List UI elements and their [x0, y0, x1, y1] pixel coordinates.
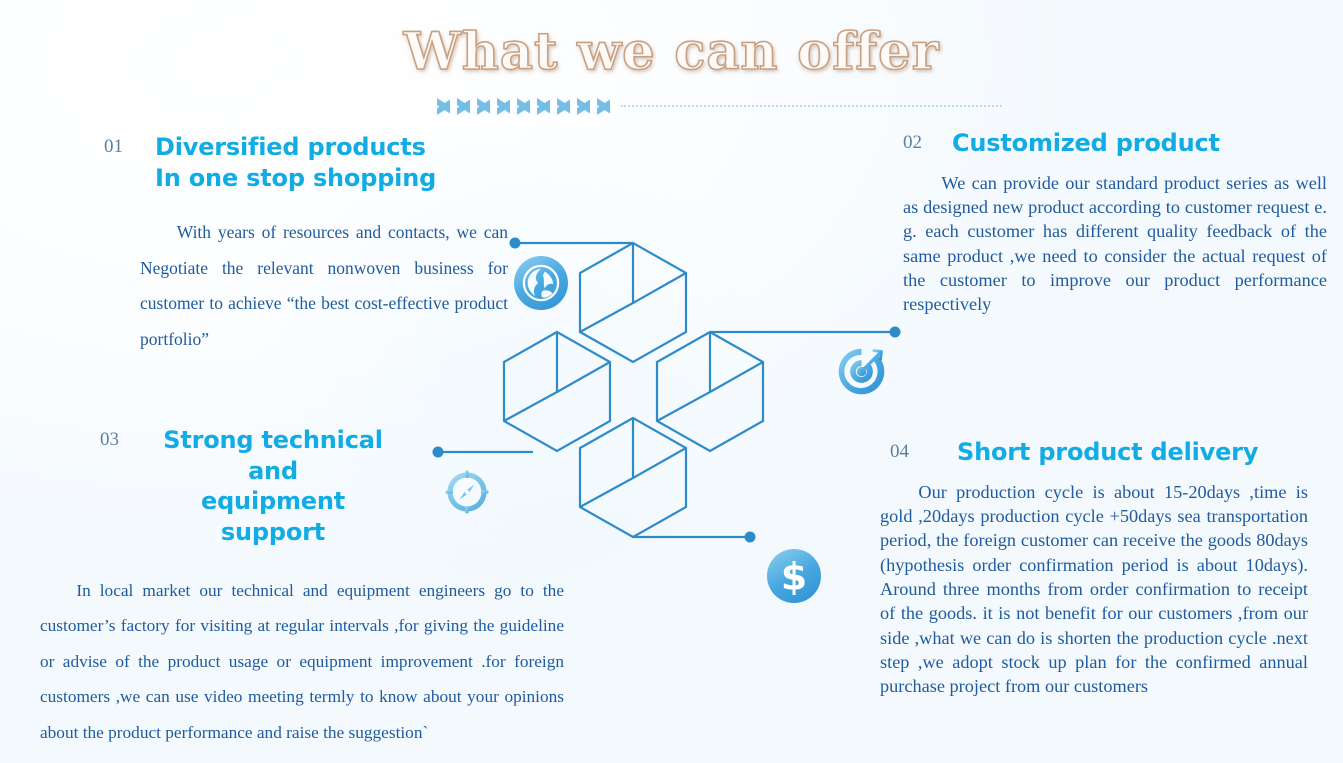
globe-glyph — [522, 264, 560, 302]
chevron-right-icon — [497, 96, 510, 116]
feature-title-line1: Strong technical and — [145, 425, 401, 486]
feature-body-03: In local market our technical and equipm… — [40, 573, 564, 750]
chevron-right-icon — [457, 96, 470, 116]
chevron-right-icon — [577, 96, 590, 116]
feature-block-02: 02 Customized product We can provide our… — [903, 128, 1328, 317]
dotted-rule — [621, 105, 1002, 107]
feature-body-02: We can provide our standard product seri… — [903, 171, 1327, 317]
target-icon — [833, 343, 890, 400]
svg-text:$: $ — [781, 555, 807, 599]
feature-title-01: Diversified products In one stop shoppin… — [155, 132, 436, 193]
chevron-right-icon — [517, 96, 530, 116]
feature-header-04: 04 Short product delivery — [890, 437, 1320, 468]
feature-header-01: 01 Diversified products In one stop shop… — [104, 132, 524, 193]
cube-right — [657, 332, 763, 451]
chevron-right-icon — [597, 96, 610, 116]
dollar-glyph: $ — [767, 549, 821, 603]
feature-title-line1: Short product delivery — [957, 437, 1258, 468]
feature-number-04: 04 — [890, 437, 909, 461]
feature-block-03: 03 Strong technical and equipment suppor… — [100, 425, 560, 750]
feature-title-line1: Customized product — [952, 128, 1220, 159]
chevron-divider — [437, 93, 1002, 119]
chevron-right-icon — [477, 96, 490, 116]
endpoint-dot-right — [890, 327, 901, 338]
target-glyph — [833, 343, 890, 400]
feature-title-03: Strong technical and equipment support — [145, 425, 401, 548]
feature-title-line2: In one stop shopping — [155, 163, 436, 194]
feature-number-01: 01 — [104, 132, 123, 156]
feature-number-02: 02 — [903, 128, 922, 152]
feature-header-02: 02 Customized product — [903, 128, 1328, 159]
cube-top — [580, 243, 686, 362]
endpoint-dot-bottom-right — [745, 532, 756, 543]
feature-header-03: 03 Strong technical and equipment suppor… — [100, 425, 560, 548]
feature-title-line2: equipment support — [145, 486, 401, 547]
dollar-icon: $ — [767, 549, 821, 603]
feature-title-02: Customized product — [952, 128, 1220, 159]
feature-body-01: With years of resources and contacts, we… — [140, 215, 508, 357]
page-title: What we can offer — [404, 22, 940, 82]
feature-title-04: Short product delivery — [957, 437, 1258, 468]
cube-bottom — [580, 418, 686, 537]
feature-title-line1: Diversified products — [155, 132, 436, 163]
feature-body-04: Our production cycle is about 15-20days … — [880, 480, 1308, 699]
chevron-right-icon — [557, 96, 570, 116]
chevron-right-icon — [537, 96, 550, 116]
slide-title-container: What we can offer — [0, 22, 1343, 82]
chevron-right-icon — [437, 96, 450, 116]
slide-canvas: What we can offer — [0, 0, 1343, 763]
feature-number-03: 03 — [100, 425, 119, 449]
feature-block-04: 04 Short product delivery Our production… — [890, 437, 1320, 699]
feature-block-01: 01 Diversified products In one stop shop… — [104, 132, 524, 358]
